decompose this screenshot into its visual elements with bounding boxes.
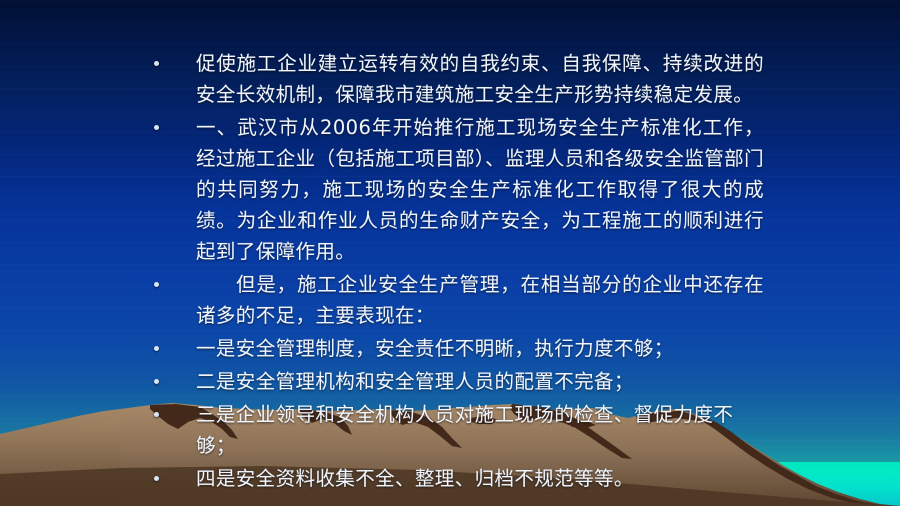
bullet-text: 三是企业领导和安全机构人员对施工现场的检查、督促力度不够；	[196, 399, 764, 461]
presentation-slide: 促使施工企业建立运转有效的自我约束、自我保障、持续改进的安全长效机制，保障我市建…	[0, 0, 900, 506]
bullet-point-icon	[148, 463, 196, 494]
bullet-text: 二是安全管理机构和安全管理人员的配置不完备；	[196, 366, 764, 397]
bullet-item: 一是安全管理制度，安全责任不明晰，执行力度不够；	[148, 333, 764, 364]
bullet-item: 但是，施工企业安全生产管理，在相当部分的企业中还存在诸多的不足，主要表现在：	[148, 269, 764, 331]
bullet-point-icon	[148, 399, 196, 430]
bullet-item: 四是安全资料收集不全、整理、归档不规范等等。	[148, 463, 764, 494]
bullet-text: 一、武汉市从2006年开始推行施工现场安全生产标准化工作，经过施工企业（包括施工…	[196, 112, 764, 267]
bullet-point-icon	[148, 48, 196, 79]
bullet-point-icon	[148, 269, 196, 300]
bullet-point-icon	[148, 366, 196, 397]
bullet-text: 一是安全管理制度，安全责任不明晰，执行力度不够；	[196, 333, 764, 364]
bullet-point-icon	[148, 333, 196, 364]
bullet-item: 二是安全管理机构和安全管理人员的配置不完备；	[148, 366, 764, 397]
bullet-text: 四是安全资料收集不全、整理、归档不规范等等。	[196, 463, 764, 494]
slide-body-text: 促使施工企业建立运转有效的自我约束、自我保障、持续改进的安全长效机制，保障我市建…	[148, 48, 764, 496]
bullet-item: 一、武汉市从2006年开始推行施工现场安全生产标准化工作，经过施工企业（包括施工…	[148, 112, 764, 267]
bullet-item: 促使施工企业建立运转有效的自我约束、自我保障、持续改进的安全长效机制，保障我市建…	[148, 48, 764, 110]
bullet-text: 但是，施工企业安全生产管理，在相当部分的企业中还存在诸多的不足，主要表现在：	[196, 269, 764, 331]
bullet-text: 促使施工企业建立运转有效的自我约束、自我保障、持续改进的安全长效机制，保障我市建…	[196, 48, 764, 110]
bullet-point-icon	[148, 112, 196, 143]
bullet-item: 三是企业领导和安全机构人员对施工现场的检查、督促力度不够；	[148, 399, 764, 461]
